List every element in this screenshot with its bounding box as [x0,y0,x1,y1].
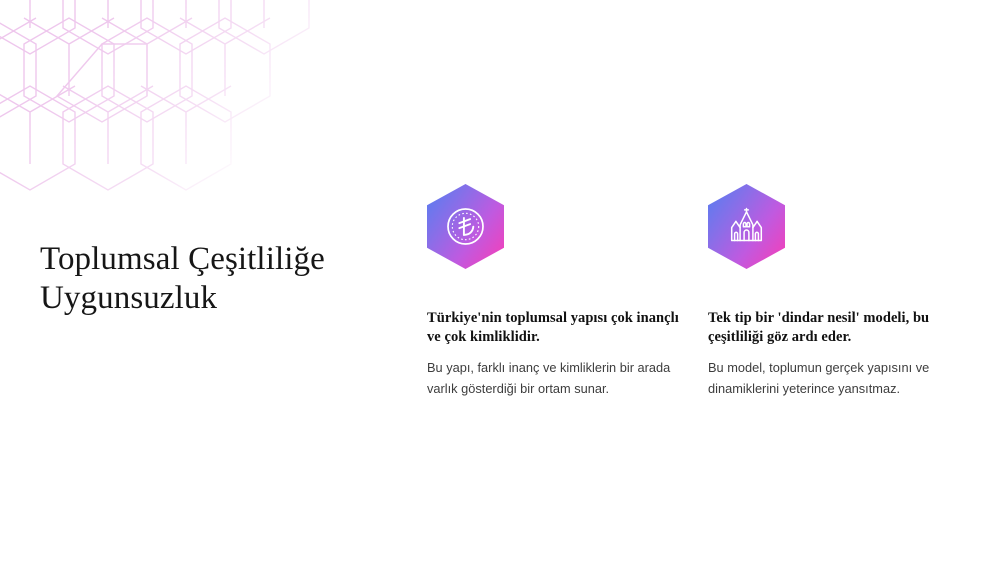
cathedral-icon [708,184,785,269]
feature-heading: Türkiye'nin toplumsal yapısı çok inançlı… [427,309,683,347]
title-block: Toplumsal Çeşitliliğe Uygunsuzluk [40,240,380,318]
lira-coin-icon [427,184,504,269]
feature-column-2: Tek tip bir 'dindar nesil' modeli, bu çe… [708,184,964,400]
feature-heading: Tek tip bir 'dindar nesil' modeli, bu çe… [708,309,964,347]
feature-body: Bu model, toplumun gerçek yapısını ve di… [708,358,954,399]
slide-canvas: Toplumsal Çeşitliliğe Uygunsuzluk [0,0,1000,563]
page-title: Toplumsal Çeşitliliğe Uygunsuzluk [40,240,380,318]
feature-body: Bu yapı, farklı inanç ve kimliklerin bir… [427,358,677,399]
feature-column-1: Türkiye'nin toplumsal yapısı çok inançlı… [427,184,683,400]
isometric-cube-lattice-icon [0,0,320,192]
